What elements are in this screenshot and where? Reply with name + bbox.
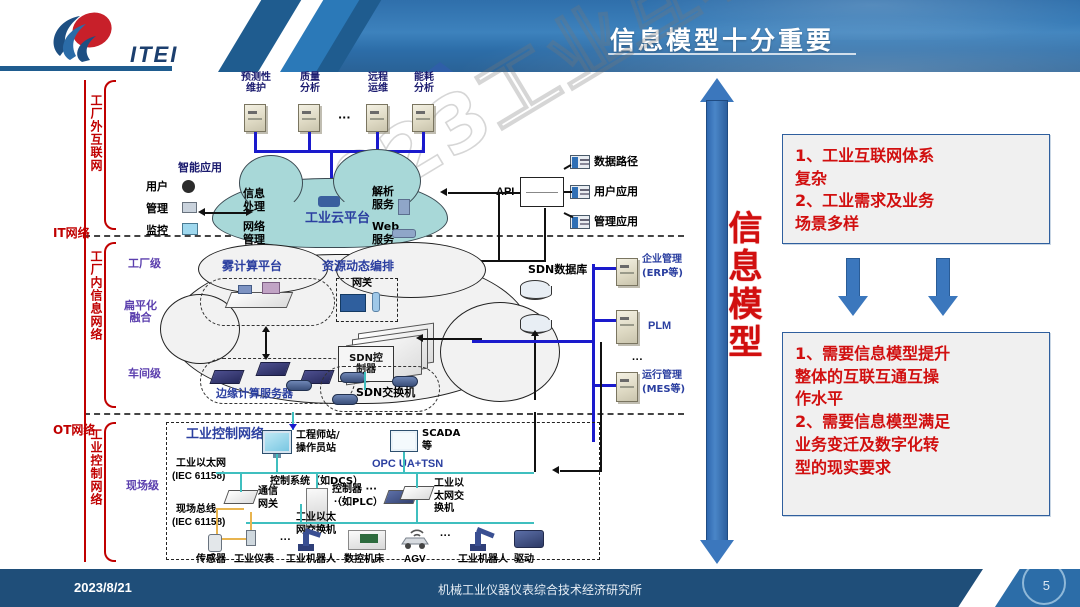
- api-link-3: [564, 212, 574, 218]
- label-edge-servers: 边缘计算服务器: [216, 388, 293, 400]
- user-cloud-link: [204, 212, 246, 214]
- fog-edge-arrow-dn: [262, 354, 270, 360]
- panel-challenges: 1、工业互联网体系 复杂 2、工业需求及业务 场景多样: [782, 134, 1050, 244]
- enterprise-label-mes: 运行管理: [642, 370, 682, 381]
- app-label-energy-analysis: 能耗 分析: [404, 72, 444, 94]
- ethernet-bus-top: [216, 472, 534, 474]
- instrument-icon: [246, 530, 256, 546]
- label-field-level: 现场级: [126, 480, 159, 492]
- enterprise-bus: [592, 264, 595, 442]
- title-underline: [608, 53, 856, 55]
- label-device-ellipsis: ···: [440, 530, 451, 542]
- enterprise-sub-mes: (MES等): [642, 384, 685, 395]
- panel-requirements: 1、需要信息模型提升 整体的互联互通互操 作水平 2、需要信息模型满足 业务变迁…: [782, 332, 1050, 516]
- app-drop-2: [308, 132, 311, 150]
- enterprise-drop-3: [592, 384, 616, 387]
- brace-inside-factory: [104, 242, 116, 408]
- edge-server-1: [209, 370, 244, 384]
- label-ot-network: OT网络: [53, 424, 95, 437]
- label-engineering-station: 工程师站/ 操作员站: [296, 430, 340, 455]
- connector-arrow-head-left: [838, 296, 868, 316]
- cloud-analytics-icon: [398, 199, 410, 215]
- management-icon: [182, 202, 197, 213]
- app-server-quality-analysis: [298, 104, 320, 132]
- architecture-diagram: 工厂外互联网 工厂内信息网络 工业控制网络 IT网络 OT网络 工厂级 扁平化 …: [0, 72, 690, 569]
- label-control-network-box: 工业控制网络: [186, 428, 264, 443]
- ethernet-drop-scada: [403, 452, 405, 472]
- label-scada: SCADA 等: [422, 428, 460, 453]
- zone-label-control-network: 工业控制网络: [88, 428, 105, 556]
- label-fog-platform: 雾计算平台: [222, 260, 282, 273]
- header-triangle-marker: [424, 62, 456, 72]
- cnc-screen-icon: [360, 534, 378, 543]
- scada-icon: [390, 430, 418, 452]
- api-box-line: [526, 192, 558, 193]
- industrial-robot-icon: [294, 524, 326, 552]
- slide-header: 信息模型十分重要 ITEI: [0, 0, 1080, 72]
- footer-organization: 机械工业仪器仪表综合技术经济研究所: [0, 581, 1080, 598]
- zone-label-inside-factory: 工厂内信息网络: [88, 250, 105, 402]
- app-drop-3: [376, 132, 379, 150]
- panel-challenges-text: 1、工业互联网体系 复杂 2、工业需求及业务 场景多样: [783, 135, 1049, 246]
- control-net-uplink-arrow: [289, 424, 297, 430]
- app-drop-4: [422, 132, 425, 150]
- panel-requirements-text: 1、需要信息模型提升 整体的互联互通互操 作水平 2、需要信息模型满足 业务变迁…: [783, 333, 1049, 489]
- enterprise-sub-erp: (ERP等): [642, 268, 683, 279]
- cloud-service-network-mgmt: 网络 管理: [243, 220, 265, 246]
- enterprise-label-erp: 企业管理: [642, 254, 682, 265]
- api-horizontal-1: [498, 260, 544, 262]
- enterprise-label-plm: PLM: [648, 320, 671, 332]
- enterprise-bus-branch: [472, 340, 594, 343]
- label-eth-switch-right: 工业以 太网交 换机: [434, 478, 464, 516]
- ethernet-drop-gateway: [240, 472, 242, 492]
- enterprise-label-ellipsis: ···: [632, 354, 643, 366]
- label-workshop-level: 车间级: [128, 368, 161, 380]
- label-sensor: 传感器: [196, 554, 226, 565]
- app-server-energy-analysis: [412, 104, 434, 132]
- label-fieldbus: 现场总线: [176, 504, 216, 515]
- connector-arrow-shaft-left: [846, 258, 860, 298]
- label-drive: 驱动: [514, 554, 534, 565]
- enterprise-server-plm: [616, 310, 638, 344]
- app-bus-to-cloud: [330, 150, 333, 178]
- panel-connector-arrow-right: [928, 258, 958, 320]
- brace-control-network: [104, 422, 116, 562]
- ethernet-drop-b1: [300, 504, 302, 522]
- label-factory-level: 工厂级: [128, 258, 161, 270]
- label-sdn-database: SDN数据库: [528, 264, 587, 276]
- ethernet-drop-eng: [276, 454, 278, 472]
- comm-gateway-icon: [223, 490, 258, 504]
- industrial-robot-2-icon: [466, 524, 500, 552]
- connector-arrow-shaft-right: [936, 258, 950, 298]
- label-instrument: 工业仪表: [234, 554, 274, 565]
- gateway-icon: [340, 294, 366, 312]
- drive-icon: [514, 530, 544, 548]
- sdn-arrow-right: [416, 334, 423, 342]
- api-target-management-app: 管理应用: [594, 216, 638, 228]
- label-smart-apps: 智能应用: [178, 162, 222, 174]
- enterprise-server-erp: [616, 258, 638, 286]
- fog-node-icon-2: [262, 282, 280, 294]
- api-vertical-2: [544, 208, 546, 262]
- cloud-platform-icon: [318, 196, 340, 207]
- api-target-user-app: 用户应用: [594, 186, 638, 198]
- ethernet-drop-switch: [416, 472, 418, 488]
- monitoring-icon: [182, 223, 198, 235]
- zone-label-outside-factory: 工厂外互联网: [88, 94, 105, 218]
- label-cnc: 数控机床: [344, 554, 384, 565]
- label-agv: AGV: [404, 554, 426, 565]
- itei-logo: ITEI: [40, 10, 230, 68]
- api-link-2: [564, 191, 572, 193]
- fog-node-icon-1: [238, 285, 252, 294]
- control-net-right-arrow: [552, 466, 559, 474]
- sdn-switch-1: [340, 372, 366, 383]
- icon-data-path: [570, 155, 590, 169]
- brace-outside-factory: [104, 80, 116, 230]
- fog-edge-arrow-up: [262, 326, 270, 332]
- sdn-db-link: [534, 334, 536, 400]
- app-label-ellipsis: ···: [338, 112, 351, 124]
- slide: 信息模型十分重要 ITEI 2023工业互联网大会 工厂外互联网 工厂内信息网络…: [0, 0, 1080, 607]
- app-label-predictive-maintenance: 预测性 维护: [236, 72, 276, 94]
- cloud-service-analytics: 解析 服务: [372, 185, 394, 211]
- app-label-quality-analysis: 质量 分析: [290, 72, 330, 94]
- engineering-station-icon: [262, 430, 292, 454]
- arrow-head-down: [700, 540, 734, 564]
- label-resource-orchestration: 资源动态编排: [322, 260, 394, 273]
- control-net-right-vertical: [600, 342, 602, 472]
- label-robot-2: 工业机器人: [458, 554, 508, 565]
- control-net-right-horizontal: [560, 470, 602, 472]
- enterprise-drop-1: [592, 267, 616, 270]
- user-cloud-arrow-right: [246, 208, 253, 216]
- information-model-label: 信息模型: [718, 210, 767, 362]
- label-comm-gateway: 通信 网关: [258, 486, 278, 511]
- external-label-monitoring: 监控: [146, 225, 168, 237]
- external-label-user: 用户: [146, 181, 168, 193]
- api-vertical-1: [498, 194, 500, 262]
- label-flattening: 扁平化 融合: [124, 300, 157, 325]
- panel-connector-arrow-left: [838, 258, 868, 320]
- label-field-ellipsis: ···: [280, 534, 291, 546]
- cloud-title: 工业云平台: [305, 212, 370, 227]
- control-net-uplink: [534, 412, 536, 472]
- gateway-antenna-icon: [372, 292, 380, 312]
- ethernet-drop-dcs: [316, 472, 318, 488]
- api-target-data-path: 数据路径: [594, 156, 638, 168]
- sensor-icon: [208, 534, 222, 552]
- label-it-network: IT网络: [53, 227, 90, 240]
- cloud-api-arrow: [440, 188, 447, 196]
- eth-switch-left-icon: [399, 486, 434, 500]
- icon-user-app: [570, 185, 590, 199]
- logo-text: ITEI: [130, 42, 178, 68]
- edge-server-2: [255, 362, 290, 376]
- ethernet-drop-b2: [416, 500, 418, 522]
- sdn-db-arrow: [531, 330, 539, 336]
- enterprise-server-mes: [616, 372, 638, 402]
- sdn-switch-3: [332, 394, 358, 405]
- app-server-remote-ops: [366, 104, 388, 132]
- zone-axis-line: [84, 80, 86, 562]
- page-title: 信息模型十分重要: [610, 21, 834, 57]
- app-label-remote-ops: 远程 运维: [358, 72, 398, 94]
- sdn-controller-switch-link: [364, 372, 366, 390]
- user-icon: [182, 180, 195, 193]
- label-industrial-ethernet: 工业以太网: [176, 458, 226, 469]
- agv-icon: [398, 524, 432, 550]
- fieldbus-top: [216, 508, 244, 510]
- sdn-db-1: [520, 280, 550, 300]
- arrow-head-up: [700, 78, 734, 102]
- footer-page-number: 5: [1043, 578, 1050, 593]
- user-cloud-arrow-left: [198, 208, 205, 216]
- label-controller-plc: 控制器 ··· （如PLC）: [332, 484, 383, 509]
- slide-footer: 2023/8/21 机械工业仪器仪表综合技术经济研究所 5: [0, 569, 1080, 607]
- label-gateway: 网关: [352, 278, 372, 289]
- enterprise-drop-2: [592, 319, 616, 322]
- app-drop-1: [254, 132, 257, 150]
- label-robot-1: 工业机器人: [286, 554, 336, 565]
- cloud-api-link: [448, 192, 520, 194]
- cloud-web-icon: [392, 229, 416, 238]
- app-server-predictive-maintenance: [244, 104, 266, 132]
- label-opc-ua-tsn: OPC UA+TSN: [372, 458, 443, 470]
- connector-arrow-head-right: [928, 296, 958, 316]
- fog-platform-plate: [225, 292, 293, 308]
- sdn-switch-4: [286, 380, 312, 391]
- external-label-management: 管理: [146, 203, 168, 215]
